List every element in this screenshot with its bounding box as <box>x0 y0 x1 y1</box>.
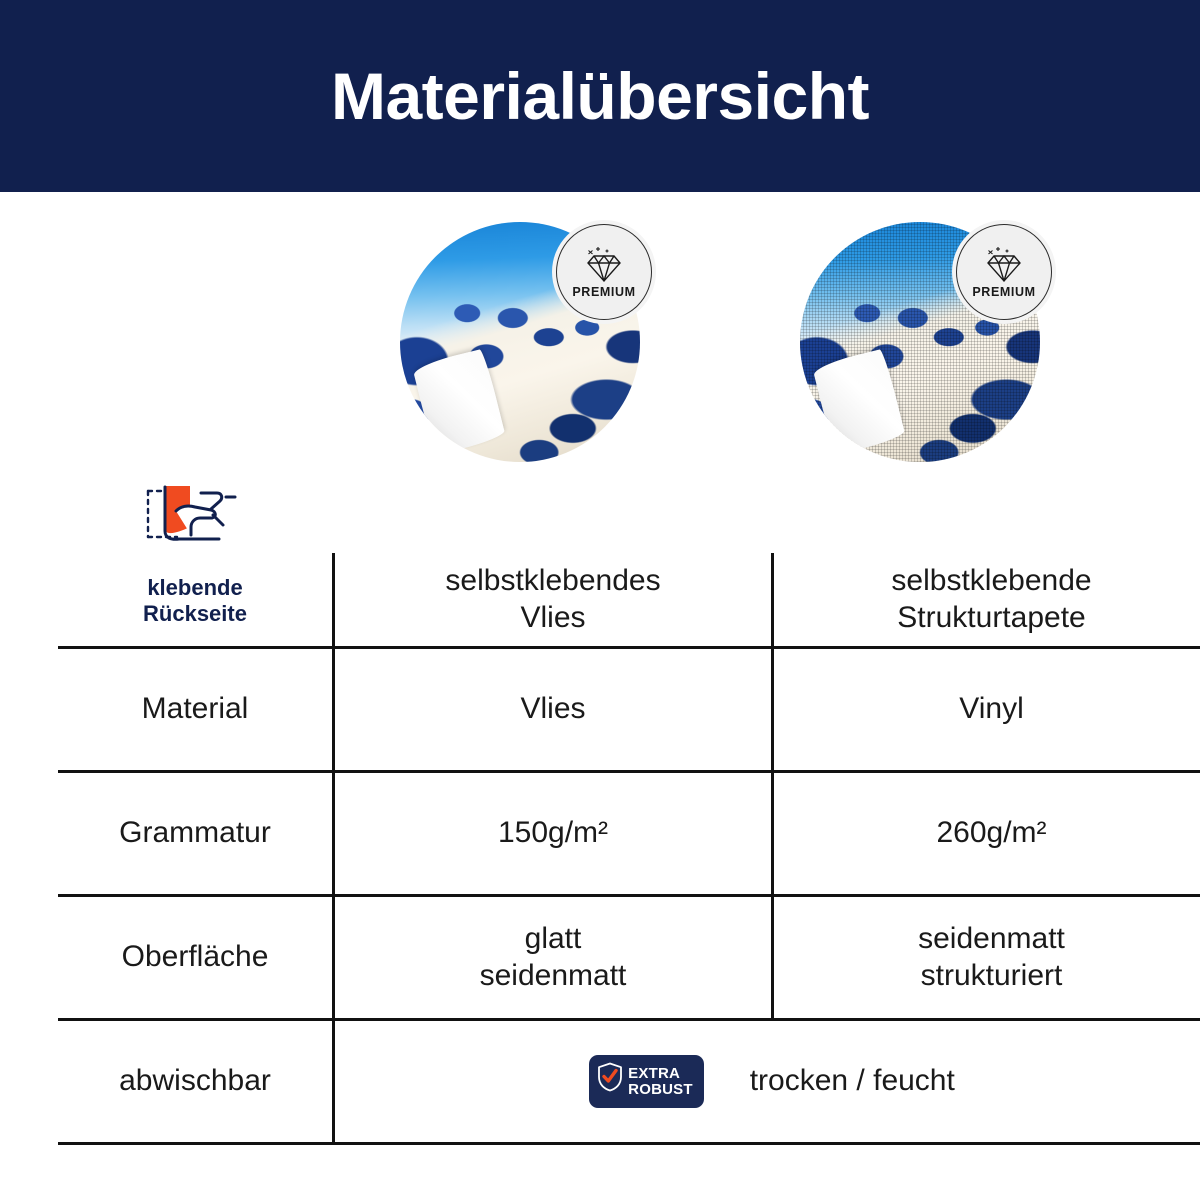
row-label-oberflaeche: Oberfläche <box>58 896 334 1020</box>
product-thumbnail-vlies: PREMIUM <box>400 222 640 462</box>
row-label-grammatur: Grammatur <box>58 772 334 896</box>
extra-robust-badge: EXTRA ROBUST <box>589 1055 704 1109</box>
row-label-abwischbar: abwischbar <box>58 1020 334 1144</box>
table-row-abwischbar: abwischbar EXTRA ROBUST trocken / feuc <box>58 1020 1200 1144</box>
premium-badge-label: PREMIUM <box>972 286 1035 299</box>
extra-robust-label-line2: ROBUST <box>628 1081 693 1098</box>
product-name-strukturtapete-line2: Strukturtapete <box>897 601 1085 634</box>
peeled-corner-icon <box>412 348 506 455</box>
cell-material-strukturtapete: Vinyl <box>773 648 1200 772</box>
cell-oberflaeche-strukturtapete-line1: seidenmatt <box>918 922 1065 955</box>
premium-badge-label: PREMIUM <box>572 286 635 299</box>
material-comparison-table: klebende Rückseite selbstklebendes Vlies… <box>58 553 1200 1145</box>
cell-oberflaeche-vlies-line1: glatt <box>525 922 582 955</box>
cell-grammatur-vlies: 150g/m² <box>334 772 773 896</box>
cell-abwischbar-merged: EXTRA ROBUST trocken / feucht <box>334 1020 1200 1144</box>
sticky-back-caption: klebende Rückseite <box>68 575 322 627</box>
diamond-icon <box>581 245 627 285</box>
row-label-material: Material <box>58 648 334 772</box>
cell-grammatur-strukturtapete: 260g/m² <box>773 772 1200 896</box>
premium-badge-vlies: PREMIUM <box>556 224 652 320</box>
peeled-corner-icon <box>812 348 906 455</box>
sticky-back-caption-line1: klebende <box>147 575 242 600</box>
product-thumbnail-strukturtapete: PREMIUM <box>800 222 1040 462</box>
page-title: Materialübersicht <box>331 63 869 129</box>
cell-abwischbar-value: trocken / feucht <box>750 1063 955 1100</box>
cell-material-vlies: Vlies <box>334 648 773 772</box>
shield-check-icon <box>597 1062 623 1102</box>
table-row-oberflaeche: Oberfläche glatt seidenmatt seidenmatt s… <box>58 896 1200 1020</box>
table-row-product-names: klebende Rückseite selbstklebendes Vlies… <box>58 553 1200 648</box>
table-row-material: Material Vlies Vinyl <box>58 648 1200 772</box>
product-name-vlies-line2: Vlies <box>520 601 585 634</box>
sticky-back-caption-line2: Rückseite <box>143 601 247 626</box>
peeling-sticker-hand-icon <box>143 481 247 547</box>
sticky-back-cell: klebende Rückseite <box>58 553 334 648</box>
product-name-vlies-line1: selbstklebendes <box>445 564 660 597</box>
premium-badge-strukturtapete: PREMIUM <box>956 224 1052 320</box>
cell-oberflaeche-vlies: glatt seidenmatt <box>334 896 773 1020</box>
cell-oberflaeche-vlies-line2: seidenmatt <box>480 959 627 992</box>
product-name-vlies: selbstklebendes Vlies <box>334 553 773 648</box>
extra-robust-label: EXTRA ROBUST <box>628 1066 693 1097</box>
table-row-grammatur: Grammatur 150g/m² 260g/m² <box>58 772 1200 896</box>
cell-oberflaeche-strukturtapete-line2: strukturiert <box>921 959 1063 992</box>
product-name-strukturtapete-line1: selbstklebende <box>891 564 1091 597</box>
diamond-icon <box>981 245 1027 285</box>
header-banner: Materialübersicht <box>0 0 1200 192</box>
cell-oberflaeche-strukturtapete: seidenmatt strukturiert <box>773 896 1200 1020</box>
product-name-strukturtapete: selbstklebende Strukturtapete <box>773 553 1200 648</box>
